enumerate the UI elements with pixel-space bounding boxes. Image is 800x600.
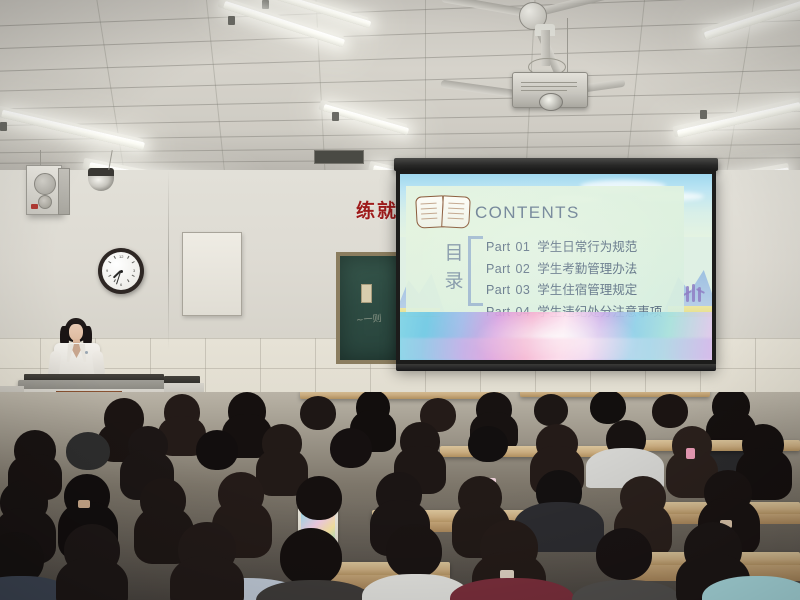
student-head	[330, 428, 372, 468]
slide-heading-contents: CONTENTS	[475, 203, 580, 223]
wall-notice-board	[182, 232, 242, 316]
student-head	[196, 430, 238, 470]
wall-clock: 12 3 6 9	[98, 248, 144, 294]
presentation-slide: CONTENTS 目 录 Part 01 学生日常行为规范 Part 02 学生…	[400, 174, 712, 360]
wall-slogan: 练就	[356, 196, 398, 223]
hair-clip	[686, 448, 695, 459]
toc-part-text: 学生住宿管理规定	[537, 279, 637, 298]
student-shoulders	[450, 578, 574, 600]
clock-center-pin	[120, 270, 123, 273]
projection-screen[interactable]: CONTENTS 目 录 Part 01 学生日常行为规范 Part 02 学生…	[396, 170, 716, 368]
student-shoulders	[572, 580, 680, 600]
toc-part-number: 03	[516, 283, 531, 297]
toc-row: Part 01 学生日常行为规范	[486, 236, 662, 255]
slide-aurora-glow	[400, 338, 712, 360]
student-head	[468, 426, 508, 462]
chalkboard-note	[361, 284, 372, 303]
student-hair	[56, 558, 128, 600]
ceiling	[0, 0, 800, 172]
toc-part-text: 学生考勤管理办法	[537, 258, 637, 277]
mulu-char-1: 目	[443, 244, 465, 264]
slide-heading-mulu: 目 录	[443, 244, 465, 292]
slide-toc-list: Part 01 学生日常行为规范 Part 02 学生考勤管理办法 Part 0…	[486, 236, 662, 320]
student-head	[590, 392, 626, 424]
hair-clip	[78, 500, 90, 508]
student-head	[652, 394, 688, 428]
toc-part-label: Part	[486, 262, 511, 276]
lecture-hall-photo: 12 3 6 9 练就 ~一则	[0, 0, 800, 600]
presenter-lapel-pin	[85, 351, 88, 354]
toc-row: Part 03 学生住宿管理规定	[486, 279, 662, 298]
toc-part-number: 01	[516, 240, 531, 254]
ceiling-air-vent	[314, 150, 364, 164]
student-head	[300, 396, 336, 430]
student-hair	[170, 556, 244, 600]
toc-part-label: Part	[486, 283, 511, 297]
mulu-char-2: 录	[443, 272, 465, 292]
slide-bracket	[468, 236, 483, 306]
ceiling-fan-1	[490, 0, 690, 44]
student-head	[596, 528, 652, 580]
projector-lens	[539, 93, 563, 111]
presenter	[48, 318, 108, 380]
clock-face: 12 3 6 9	[102, 252, 140, 290]
chalkboard-writing: ~一则	[356, 311, 382, 326]
open-book-icon	[416, 196, 468, 226]
student-head	[296, 476, 342, 520]
student-head	[386, 524, 442, 578]
student-head	[280, 528, 342, 586]
toc-row: Part 02 学生考勤管理办法	[486, 258, 662, 277]
toc-part-label: Part	[486, 240, 511, 254]
toc-part-number: 02	[516, 262, 531, 276]
projection-screen-weight-bar	[396, 364, 716, 371]
projector	[512, 72, 588, 108]
wall-speaker	[26, 165, 62, 215]
toc-part-text: 学生日常行为规范	[537, 236, 637, 255]
student-head	[534, 394, 568, 426]
audience-area	[0, 392, 800, 600]
bench-desk	[300, 392, 500, 399]
student-head-with-cap	[66, 432, 110, 470]
